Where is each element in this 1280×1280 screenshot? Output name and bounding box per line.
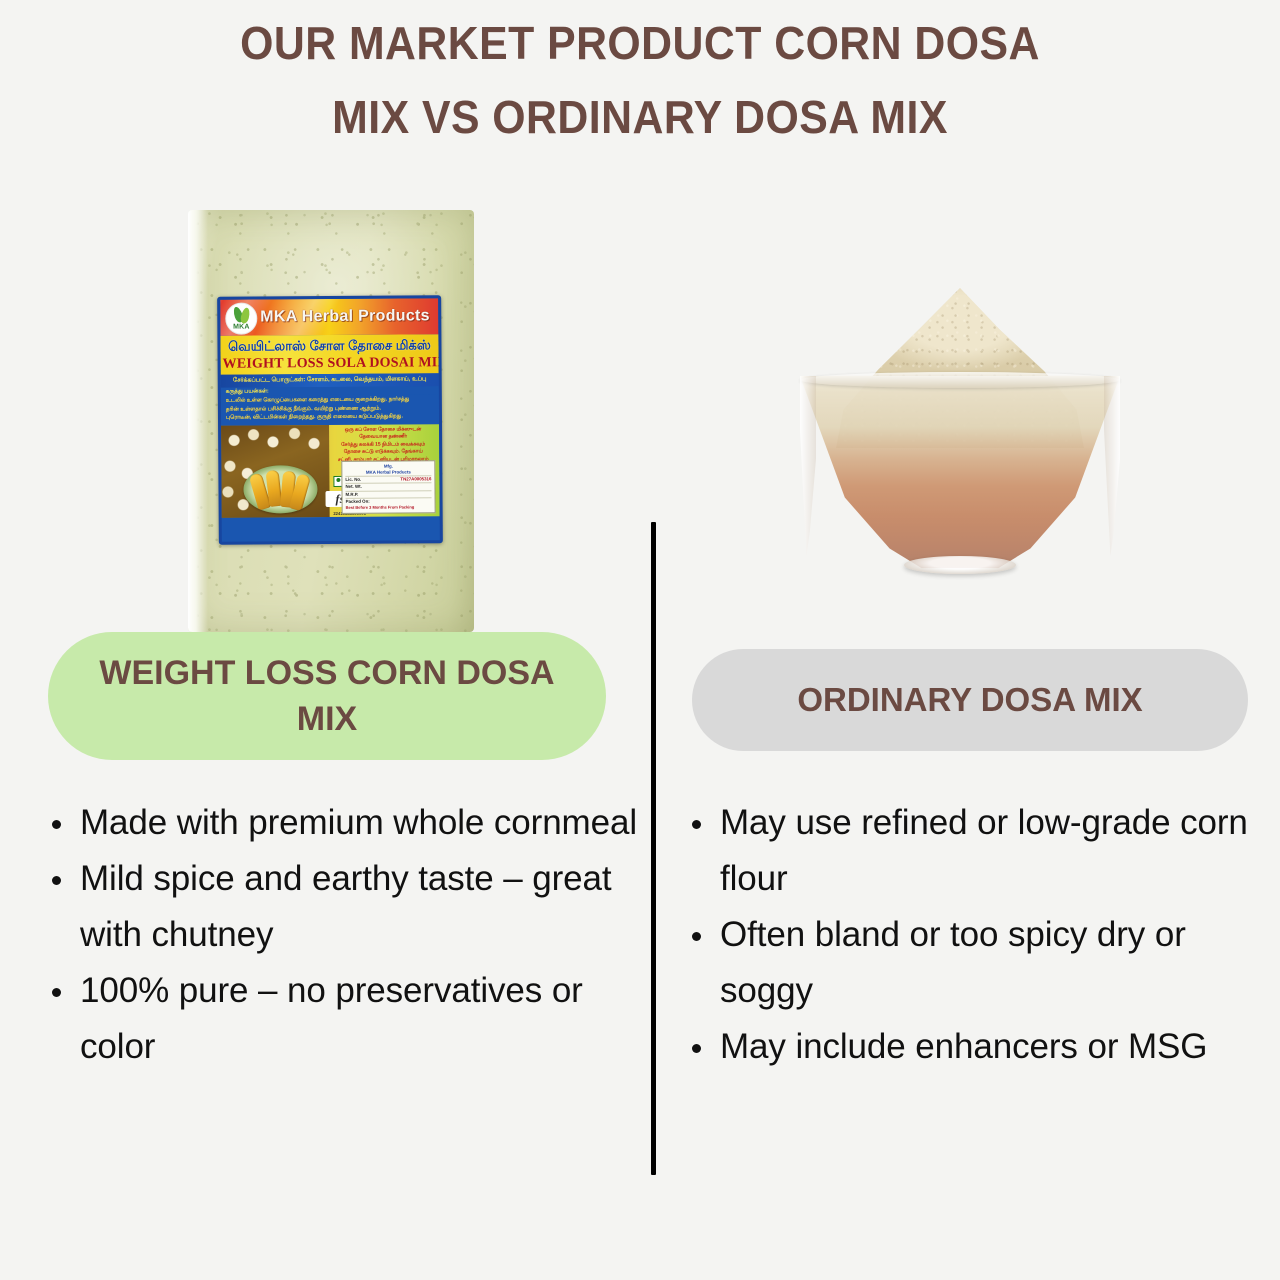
left-feature-list: Made with premium whole cornmeal Mild sp… bbox=[36, 795, 648, 1075]
glass-bowl-rim bbox=[800, 372, 1120, 388]
page-title: OUR MARKET PRODUCT CORN DOSA MIX VS ORDI… bbox=[0, 6, 1280, 154]
title-line-2: MIX VS ORDINARY DOSA MIX bbox=[45, 80, 1235, 154]
list-item: Made with premium whole cornmeal bbox=[36, 795, 648, 851]
mka-logo-icon: MKA bbox=[225, 303, 257, 335]
label-usage-line: தோசை சுட்டு எடுக்கவும். தேங்காய் bbox=[331, 448, 435, 456]
info-box-value: TN27A0005316 bbox=[400, 476, 431, 482]
label-benefit-line: புரொடீன், விட்டமின்கள் நிறைந்தது. குருதி… bbox=[226, 412, 434, 422]
label-english-title: WEIGHT LOSS SOLA DOSAI MIX bbox=[223, 354, 437, 373]
corn-kernels-photo bbox=[221, 425, 330, 518]
info-box-key: Lic. No. bbox=[345, 477, 361, 483]
list-item: May use refined or low-grade corn flour bbox=[676, 795, 1256, 907]
title-line-1: OUR MARKET PRODUCT CORN DOSA bbox=[45, 6, 1235, 80]
column-divider bbox=[651, 522, 656, 1175]
list-item: 100% pure – no preservatives or color bbox=[36, 963, 648, 1075]
right-product-pill-label: ORDINARY DOSA MIX bbox=[692, 649, 1248, 751]
leaf-icon-right bbox=[240, 307, 252, 324]
label-info-box: Mfg. MKA Herbal Products Lic. No. TN27A0… bbox=[341, 460, 435, 513]
glass-bowl-base bbox=[904, 556, 1016, 574]
info-box-footer: Best Before 3 Months From Packing bbox=[346, 504, 432, 510]
glass-bowl-edge-right bbox=[1104, 376, 1120, 556]
list-item: May include enhancers or MSG bbox=[676, 1019, 1256, 1075]
info-box-key: Net. Wt. bbox=[345, 484, 361, 490]
list-item: Often bland or too spicy dry or soggy bbox=[676, 907, 1256, 1019]
label-benefit-line: உடலில் உள்ள கொழுப்பைகளை கரைத்து எடையை கு… bbox=[226, 395, 434, 405]
left-product-pill-label: WEIGHT LOSS CORN DOSA MIX bbox=[48, 632, 606, 760]
label-lower-section: ஒரு கப் சோள தோசை மிக்ஸுடன் தேவையான தண்ணீ… bbox=[221, 424, 440, 518]
list-item: Mild spice and earthy taste – great with… bbox=[36, 851, 648, 963]
info-box-key: M.R.P. bbox=[345, 491, 358, 497]
glass-bowl-edge-left bbox=[800, 376, 816, 556]
ordinary-flour-bowl-image bbox=[800, 280, 1120, 590]
logo-text: MKA bbox=[226, 324, 256, 331]
label-tamil-title: வெயிட்லாஸ் சோள தோசை மிக்ஸ் bbox=[222, 336, 436, 355]
label-brand-bar: MKA MKA Herbal Products bbox=[220, 298, 438, 336]
package-label: MKA MKA Herbal Products வெயிட்லாஸ் சோள த… bbox=[217, 295, 443, 545]
label-usage-text: ஒரு கப் சோள தோசை மிக்ஸுடன் தேவையான தண்ணீ… bbox=[331, 426, 435, 464]
right-feature-list: May use refined or low-grade corn flour … bbox=[676, 795, 1256, 1075]
dosa-plate-photo bbox=[243, 465, 317, 514]
glass-bowl-body bbox=[800, 376, 1120, 572]
product-package-image: MKA MKA Herbal Products வெயிட்லாஸ் சோள த… bbox=[188, 210, 474, 632]
label-benefit-text: உடலில் உள்ள கொழுப்பைகளை கரைத்து எடையை கு… bbox=[221, 394, 439, 425]
label-title-band: வெயிட்லாஸ் சோள தோசை மிக்ஸ் WEIGHT LOSS S… bbox=[220, 334, 438, 375]
label-usage-line: ஒரு கப் சோள தோசை மிக்ஸுடன் தேவையான தண்ணீ… bbox=[331, 426, 435, 442]
